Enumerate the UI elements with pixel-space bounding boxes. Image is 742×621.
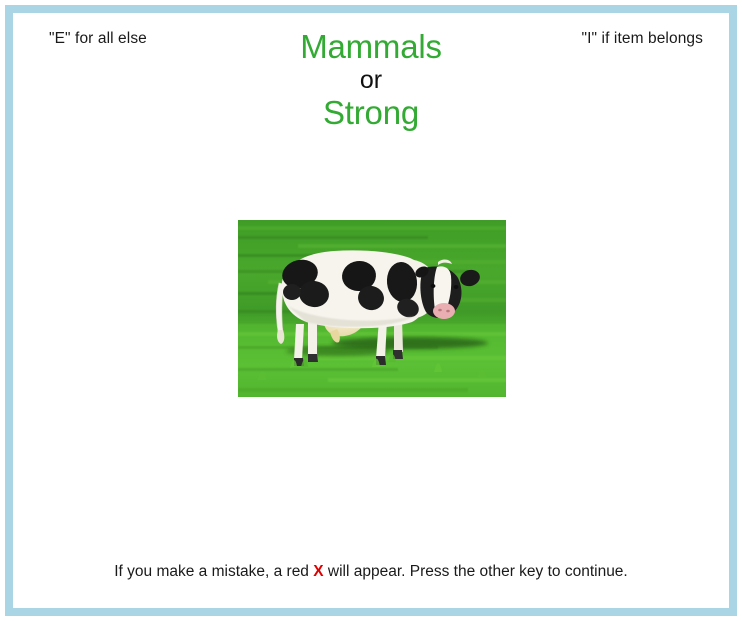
task-stage: "E" for all else "I" if item belongs Mam… <box>13 13 729 608</box>
cow-photo <box>238 220 506 397</box>
category-secondary-label: Strong <box>13 95 729 131</box>
error-mark-x: X <box>313 563 323 580</box>
category-prompt: Mammals or Strong <box>13 29 729 130</box>
stimulus-container <box>238 220 506 397</box>
footer-instruction: If you make a mistake, a red X will appe… <box>13 563 729 581</box>
footer-text-before: If you make a mistake, a red <box>114 563 313 580</box>
category-primary-label: Mammals <box>13 29 729 65</box>
category-conjunction-label: or <box>13 67 729 94</box>
task-frame: "E" for all else "I" if item belongs Mam… <box>5 5 737 616</box>
footer-text-after: will appear. Press the other key to cont… <box>324 563 628 580</box>
